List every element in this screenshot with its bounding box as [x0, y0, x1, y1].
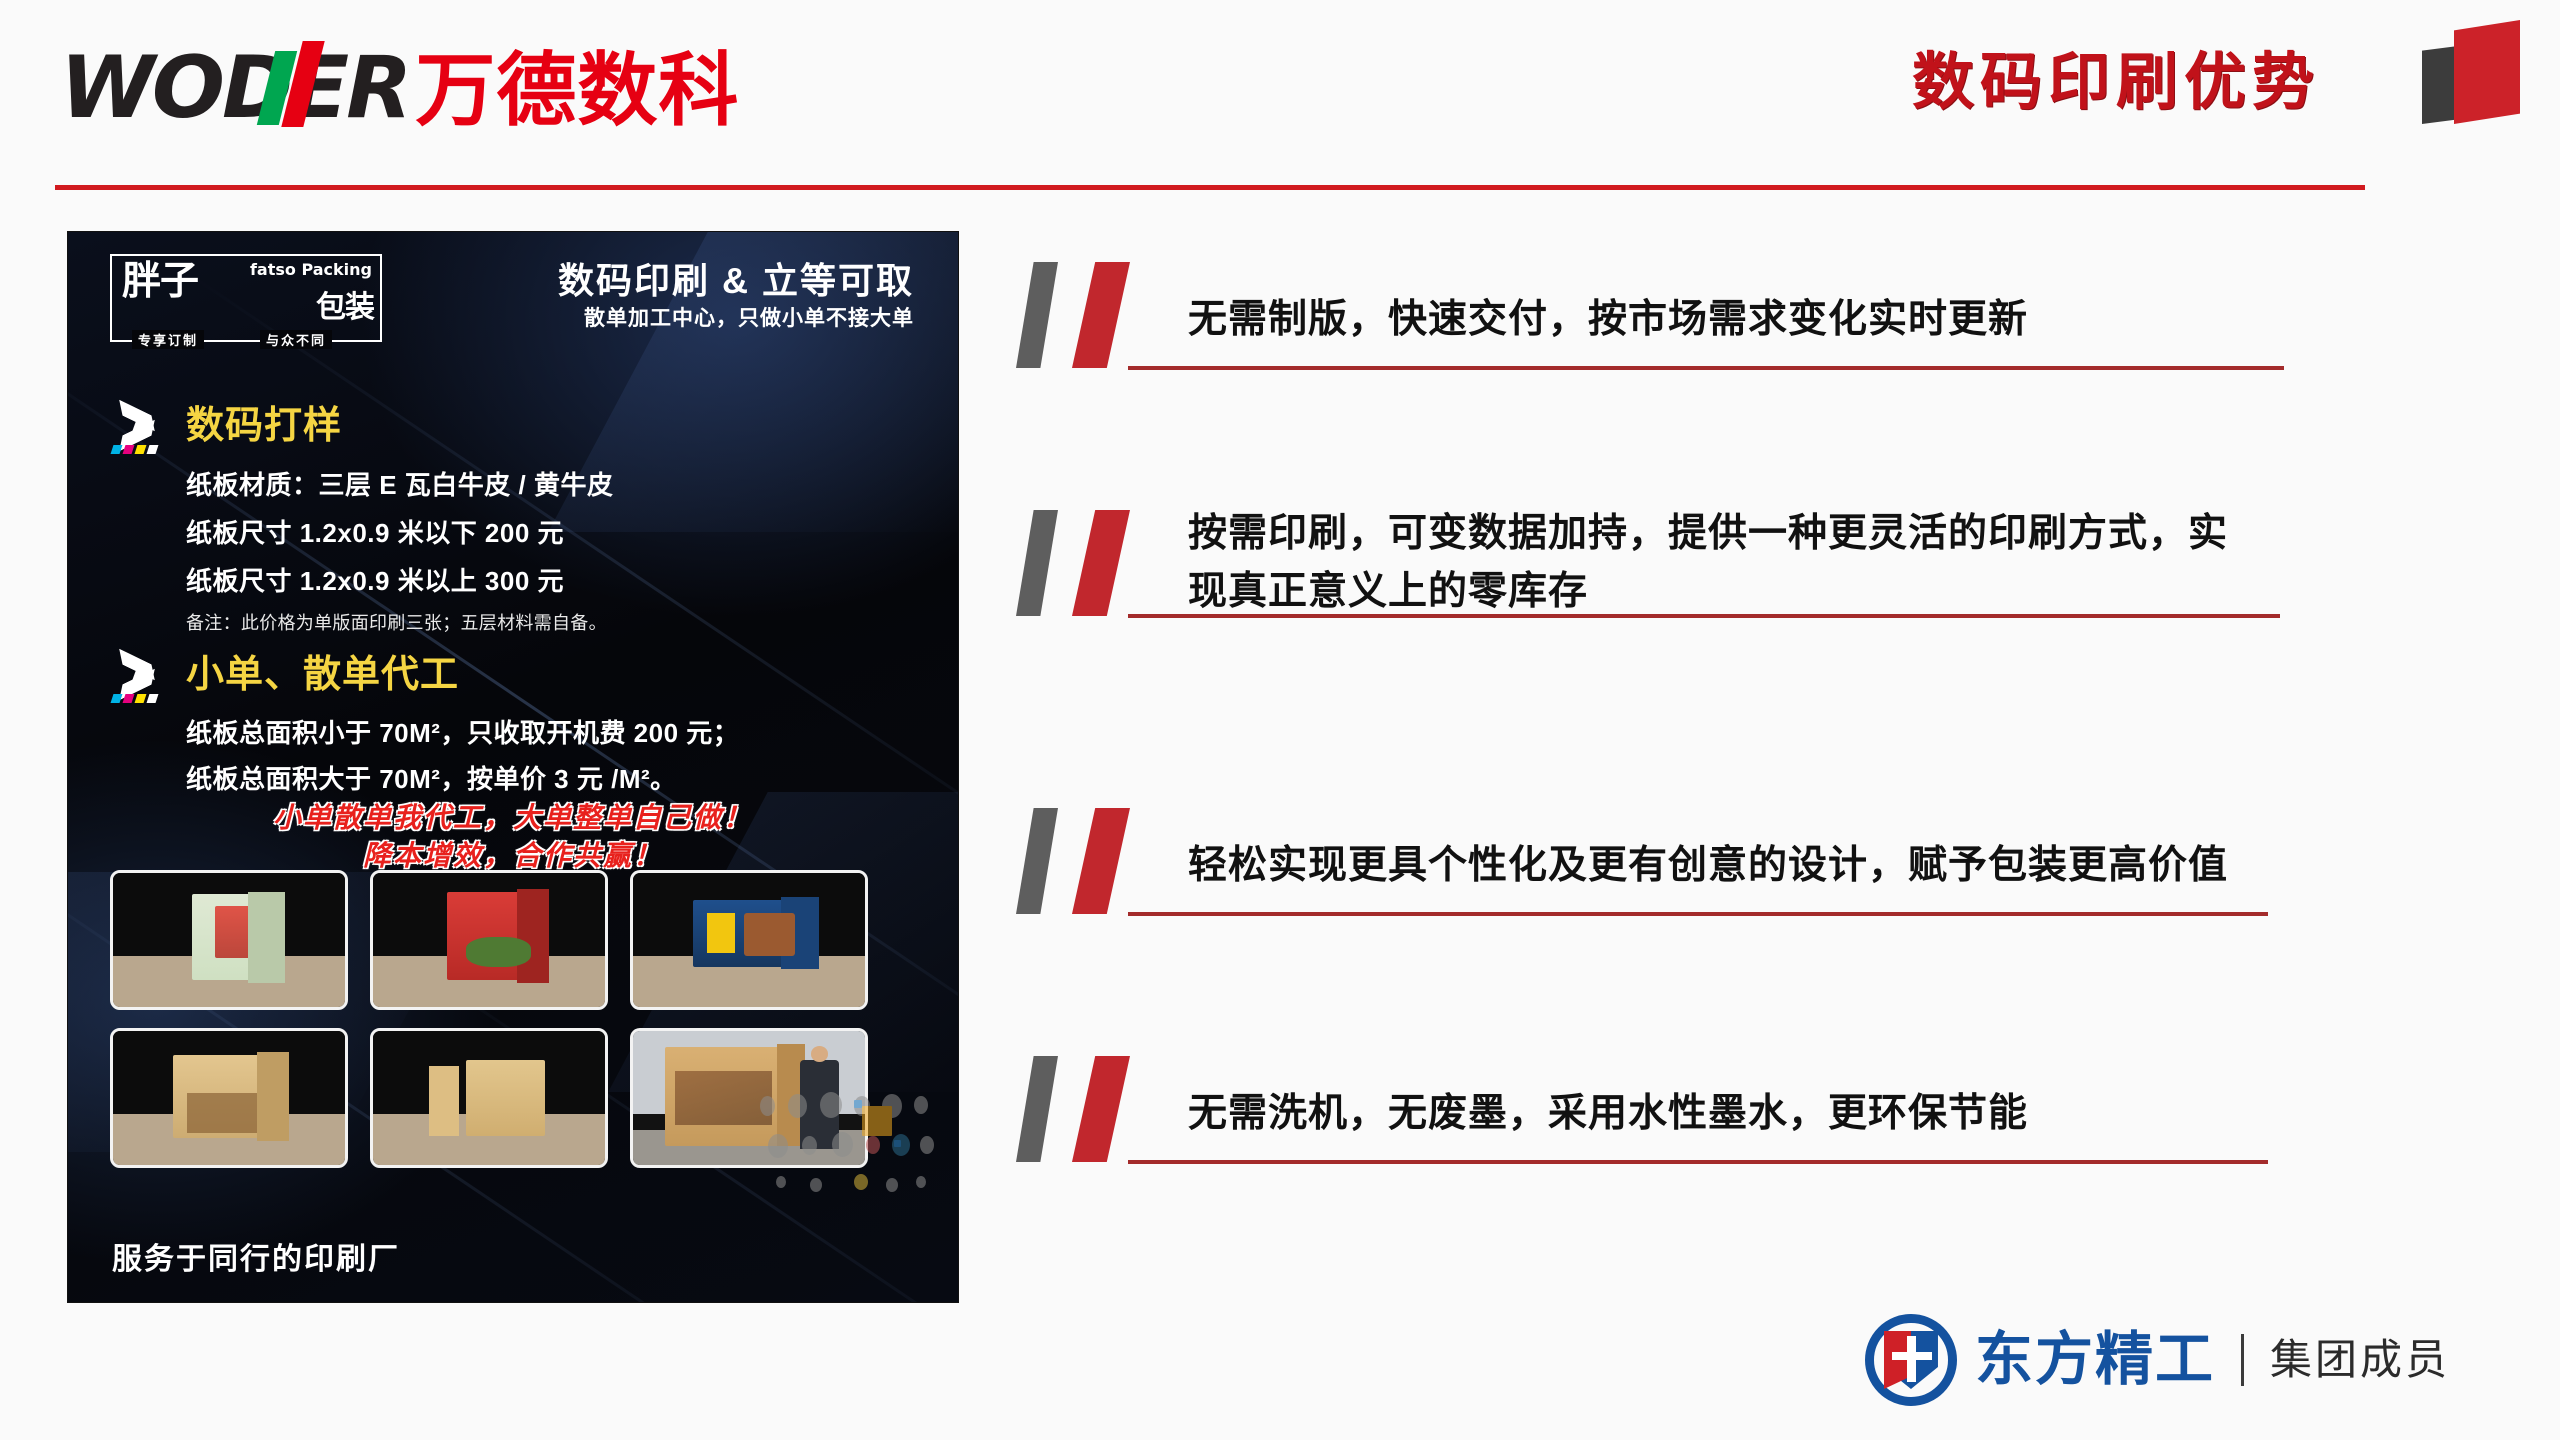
poster-footer-text: 服务于同行的印刷厂	[112, 1234, 400, 1278]
poster-photo-grid	[110, 870, 868, 1168]
poster-section1-line-1: 纸板材质：三层 E 瓦白牛皮 / 黄牛皮	[186, 472, 613, 498]
halftone-dots-decoration	[758, 1088, 948, 1258]
footer-divider	[2241, 1334, 2244, 1386]
group-member-logo: 东方精工 集团成员	[1865, 1314, 2450, 1406]
company-logo: WODER 万德数科	[60, 45, 739, 131]
fatso-logo-packing: 包装	[316, 282, 374, 326]
bullet-marker-icon-3	[1000, 808, 1190, 916]
poster-section2-line-2: 纸板总面积大于 70M²，按单价 3 元 /M²。	[186, 766, 677, 792]
promo-poster-image: 胖子 fatso Packing 包装 专享订制 与众不同 数码印刷 & 立等可…	[68, 232, 958, 1302]
advantage-item-4: 无需洗机，无废墨，采用水性墨水，更环保节能	[1000, 1056, 2460, 1256]
advantage-text-4: 无需洗机，无废墨，采用水性墨水，更环保节能	[1188, 1084, 2028, 1143]
corner-deco-red-panel	[2454, 20, 2520, 124]
poster-slogan-line-1: 小单散单我代工，大单整单自己做！	[68, 798, 958, 839]
dongfang-emblem-icon	[1865, 1314, 1957, 1406]
advantage-text-3: 轻松实现更具个性化及更有创意的设计，赋予包装更高价值	[1188, 836, 2228, 895]
bullet-marker-gray-3	[1016, 808, 1058, 914]
product-photo-honey-gift-box	[110, 870, 348, 1010]
corner-deco-dark-panel	[2422, 46, 2458, 124]
bullet-marker-gray-2	[1016, 510, 1058, 616]
fatso-logo-tagline-left: 专享订制	[132, 330, 204, 349]
poster-section1-title: 数码打样	[186, 407, 342, 445]
bullet-marker-red-3	[1072, 808, 1130, 914]
poster-header: 胖子 fatso Packing 包装 专享订制 与众不同 数码印刷 & 立等可…	[68, 232, 958, 360]
cmyk-dots-icon-1	[112, 445, 157, 454]
product-photo-classic-gift-carton	[370, 1028, 608, 1168]
advantage-item-2: 按需印刷，可变数据加持，提供一种更灵活的印刷方式，实 现真正意义上的零库存	[1000, 510, 2460, 808]
poster-subheadline: 散单加工中心，只做小单不接大单	[584, 302, 914, 332]
bullet-marker-icon-4	[1000, 1056, 1190, 1164]
advantages-list: 无需制版，快速交付，按市场需求变化实时更新 按需印刷，可变数据加持，提供一种更灵…	[1000, 262, 2460, 1256]
group-company-name: 东方精工	[1975, 1331, 2215, 1389]
bullet-underline-1	[1128, 366, 2284, 370]
logo-wordmark-chinese: 万德数科	[415, 51, 739, 131]
cmyk-dots-icon-2	[112, 694, 157, 703]
group-member-label: 集团成员	[2270, 1339, 2450, 1381]
poster-section1-line-3: 纸板尺寸 1.2x0.9 米以上 300 元	[186, 568, 564, 594]
bullet-marker-red-1	[1072, 262, 1130, 368]
poster-section2-line-1: 纸板总面积小于 70M²，只收取开机费 200 元；	[186, 720, 739, 746]
poster-section2-title: 小单、散单代工	[186, 656, 459, 694]
bullet-marker-icon-2	[1000, 510, 1190, 618]
advantage-text-2-line-2: 现真正意义上的零库存	[1188, 562, 1588, 621]
bullet-marker-icon-1	[1000, 262, 1190, 370]
advantage-text-2-line-1: 按需印刷，可变数据加持，提供一种更灵活的印刷方式，实	[1188, 504, 2228, 563]
bullet-marker-red-2	[1072, 510, 1130, 616]
poster-section1-note: 备注：此价格为单版面印刷三张；五层材料需自备。	[186, 614, 607, 632]
poster-section1-line-2: 纸板尺寸 1.2x0.9 米以下 200 元	[186, 520, 564, 546]
corner-decoration-icon	[2414, 8, 2530, 126]
header-divider	[55, 185, 2365, 190]
product-photo-kraft-handle-box	[110, 1028, 348, 1168]
advantage-item-3: 轻松实现更具个性化及更有创意的设计，赋予包装更高价值	[1000, 808, 2460, 1056]
page-header: WODER 万德数科 数码印刷优势	[0, 0, 2560, 190]
advantage-text-1: 无需制版，快速交付，按市场需求变化实时更新	[1188, 290, 2028, 349]
bullet-underline-4	[1128, 1160, 2268, 1164]
logo-wordmark-latin: WODER	[60, 45, 409, 131]
fatso-logo-english: fatso Packing	[250, 260, 372, 279]
poster-headline: 数码印刷 & 立等可取	[558, 252, 914, 304]
fatso-logo-main: 胖子	[122, 262, 198, 301]
page-title: 数码印刷优势	[1912, 52, 2320, 114]
bullet-marker-gray-1	[1016, 262, 1058, 368]
bullet-marker-gray-4	[1016, 1056, 1058, 1162]
arrow-marker-icon-1	[112, 407, 174, 463]
bullet-underline-3	[1128, 912, 2268, 916]
advantage-item-1: 无需制版，快速交付，按市场需求变化实时更新	[1000, 262, 2460, 510]
product-photo-beef-patty-box	[630, 870, 868, 1010]
arrow-marker-icon-2	[112, 656, 174, 712]
logo-wordmark-part1: WO	[60, 38, 222, 138]
fatso-logo: 胖子 fatso Packing 包装 专享订制 与众不同	[110, 254, 382, 342]
product-photo-red-braised-meat-box	[370, 870, 608, 1010]
bullet-marker-red-4	[1072, 1056, 1130, 1162]
fatso-logo-tagline-right: 与众不同	[260, 330, 332, 349]
